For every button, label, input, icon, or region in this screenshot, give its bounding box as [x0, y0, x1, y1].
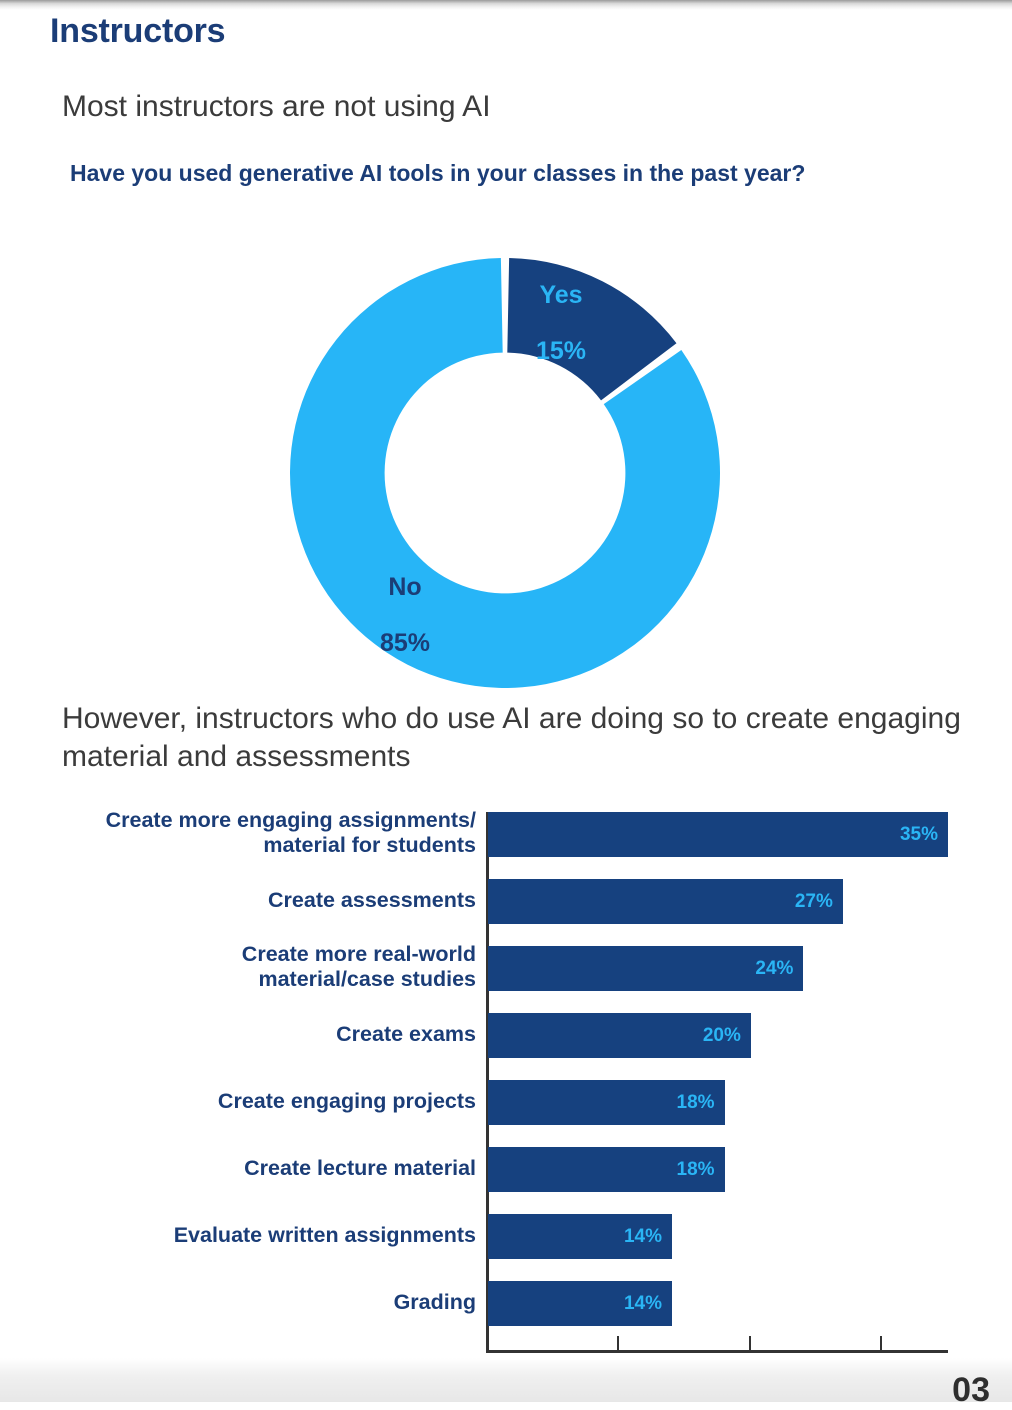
bar-chart-value-label: 20%: [703, 1025, 741, 1047]
bar-chart-x-axis: [486, 1350, 948, 1353]
bar-chart-value-label: 35%: [900, 824, 938, 846]
donut-chart: Yes 15% No 85%: [290, 225, 720, 725]
bar-chart-value-label: 18%: [677, 1092, 715, 1114]
bar-chart-bar: 18%: [488, 1080, 725, 1125]
bar-chart-value-label: 27%: [795, 891, 833, 913]
page-edge-top-shadow: [0, 0, 1012, 10]
lede-text-bottom: However, instructors who do use AI are d…: [62, 700, 962, 775]
bar-chart-bar: 20%: [488, 1013, 751, 1058]
donut-label-yes-value: 15%: [536, 337, 586, 365]
bar-chart-bar: 18%: [488, 1147, 725, 1192]
bar-chart-x-tick: [486, 1336, 488, 1351]
slide-canvas: Instructors Most instructors are not usi…: [0, 0, 1012, 1402]
bar-chart-row: Create engaging projects18%: [0, 1080, 1012, 1125]
bar-chart-bar: 14%: [488, 1214, 672, 1259]
bar-chart-row: Create more engaging assignments/ materi…: [0, 812, 1012, 857]
survey-question-heading: Have you used generative AI tools in you…: [70, 160, 805, 187]
donut-label-no: No 85%: [380, 545, 430, 657]
bar-chart-value-label: 24%: [755, 958, 793, 980]
bar-chart-value-label: 18%: [677, 1159, 715, 1181]
bar-chart-row: Create more real-world material/case stu…: [0, 946, 1012, 991]
bar-chart-category-label: Create engaging projects: [0, 1089, 476, 1114]
bar-chart-x-tick: [880, 1336, 882, 1351]
page-title: Instructors: [50, 12, 225, 51]
donut-label-no-name: No: [388, 573, 421, 601]
bar-chart-bar: 35%: [488, 812, 948, 857]
bar-chart-category-label: Create more real-world material/case stu…: [0, 942, 476, 993]
bar-chart-bar: 24%: [488, 946, 803, 991]
bar-chart-row: Create assessments27%: [0, 879, 1012, 924]
bar-chart-x-tick: [617, 1336, 619, 1351]
bar-chart-category-label: Grading: [0, 1290, 476, 1315]
donut-label-yes-name: Yes: [539, 281, 582, 309]
bar-chart-category-label: Create exams: [0, 1022, 476, 1047]
bar-chart-row: Create lecture material18%: [0, 1147, 1012, 1192]
bar-chart-row: Evaluate written assignments14%: [0, 1214, 1012, 1259]
donut-chart-svg: [290, 225, 720, 725]
bar-chart-category-label: Create assessments: [0, 888, 476, 913]
bar-chart-bar: 27%: [488, 879, 843, 924]
bar-chart-value-label: 14%: [624, 1293, 662, 1315]
bar-chart-bar: 14%: [488, 1281, 672, 1326]
bar-chart-row: Grading14%: [0, 1281, 1012, 1326]
page-number: 03: [952, 1371, 990, 1410]
bar-chart-value-label: 14%: [624, 1226, 662, 1248]
bar-chart: Create more engaging assignments/ materi…: [0, 812, 1012, 1372]
bar-chart-x-tick: [749, 1336, 751, 1351]
bar-chart-category-label: Create lecture material: [0, 1156, 476, 1181]
lede-text-top: Most instructors are not using AI: [62, 90, 491, 124]
donut-label-no-value: 85%: [380, 629, 430, 657]
donut-label-yes: Yes 15%: [536, 253, 586, 365]
bar-chart-row: Create exams20%: [0, 1013, 1012, 1058]
bar-chart-category-label: Evaluate written assignments: [0, 1223, 476, 1248]
bar-chart-category-label: Create more engaging assignments/ materi…: [0, 808, 476, 859]
